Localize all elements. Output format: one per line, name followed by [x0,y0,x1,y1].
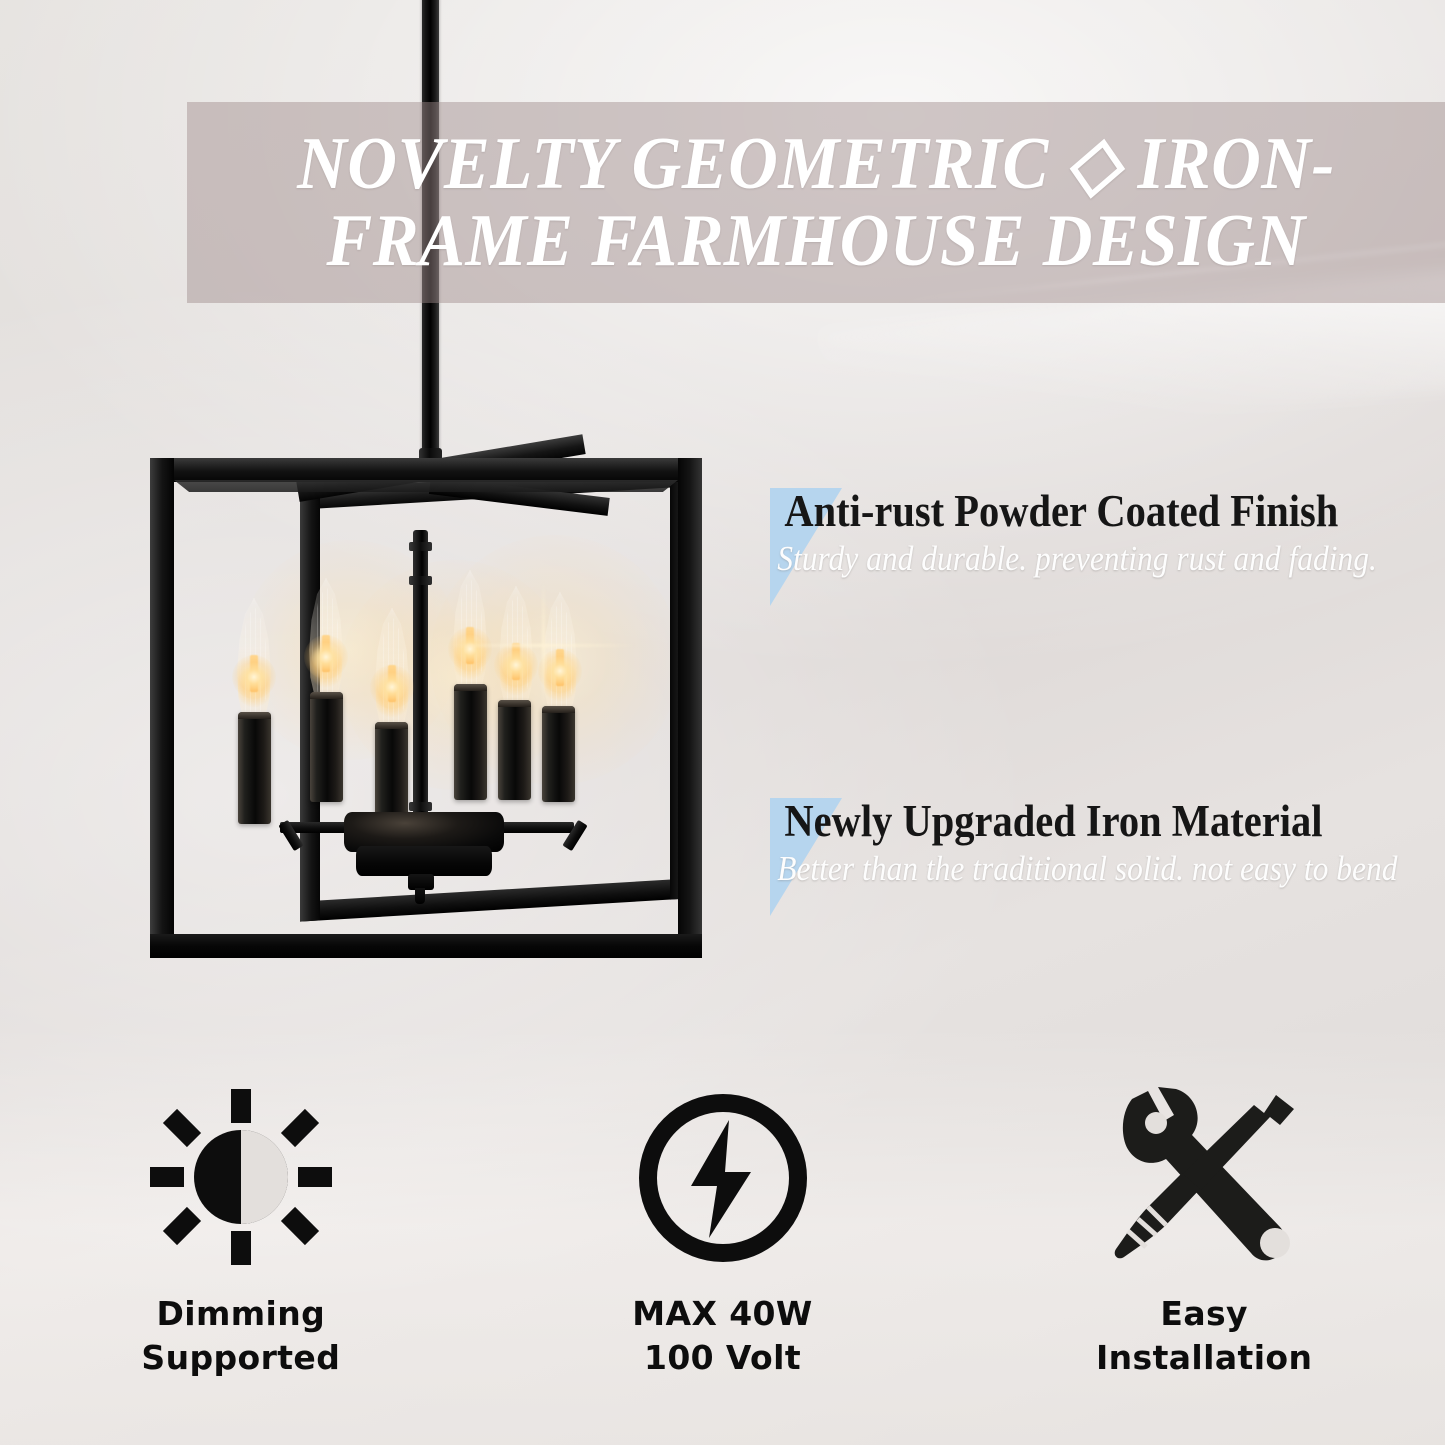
wrench-screwdriver-icon [1104,1085,1304,1270]
chandelier-fixture [130,430,730,990]
title-banner: NOVELTY GEOMETRIC ◇ IRON- FRAME FARMHOUS… [187,102,1445,303]
outer-frame-top-inner-face [174,480,678,492]
power-bolt-icon [633,1085,813,1270]
spec-item-power: MAX 40W 100 Volt [482,1085,964,1380]
feature-callout-anti-rust: Anti-rust Powder Coated Finish Sturdy an… [770,488,1442,578]
outer-frame-top-bar [150,458,702,482]
feature-subtext: Sturdy and durable. preventing rust and … [770,541,1375,578]
spec-item-installation: Easy Installation [963,1085,1445,1380]
spec-label: Dimming Supported [141,1292,340,1380]
outer-frame-right-bar [678,458,702,958]
feature-callout-iron-material: Newly Upgraded Iron Material Better than… [770,798,1442,888]
outer-iron-frame [150,458,702,958]
spec-label: MAX 40W 100 Volt [632,1292,812,1380]
page-title: NOVELTY GEOMETRIC ◇ IRON- FRAME FARMHOUS… [239,126,1392,278]
outer-frame-bottom-bar [150,934,702,958]
spec-item-dimming: Dimming Supported [0,1085,482,1380]
feature-headline: Newly Upgraded Iron Material [770,798,1375,845]
product-feature-image: NOVELTY GEOMETRIC ◇ IRON- FRAME FARMHOUS… [0,0,1445,1445]
feature-headline: Anti-rust Powder Coated Finish [770,488,1375,535]
spec-label: Easy Installation [1096,1292,1312,1380]
feature-subtext: Better than the traditional solid. not e… [770,851,1375,888]
brightness-dimmer-icon [146,1085,336,1270]
spec-icon-row: Dimming Supported MAX 40W 100 Volt [0,1085,1445,1425]
outer-frame-left-bar [150,458,174,958]
